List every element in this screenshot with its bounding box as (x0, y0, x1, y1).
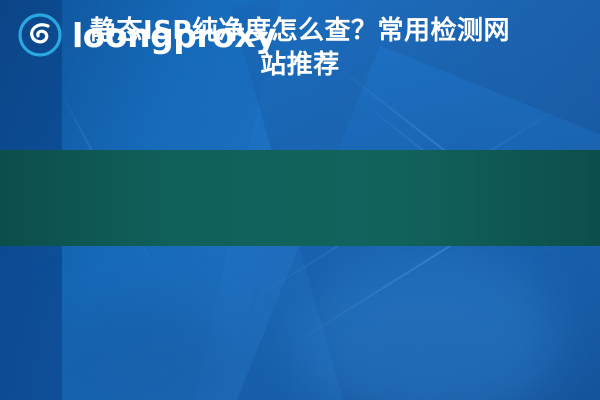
banner-title-line-2: 站推荐 (260, 48, 340, 82)
title-band (0, 150, 600, 246)
banner-title: 静态ISP纯净度怎么查？常用检测网 站推荐 (0, 0, 600, 96)
banner-title-line-1: 静态ISP纯净度怎么查？常用检测网 (90, 14, 510, 48)
banner-image: loongproxy 静态ISP纯净度怎么查？常用检测网 站推荐 (0, 0, 600, 400)
